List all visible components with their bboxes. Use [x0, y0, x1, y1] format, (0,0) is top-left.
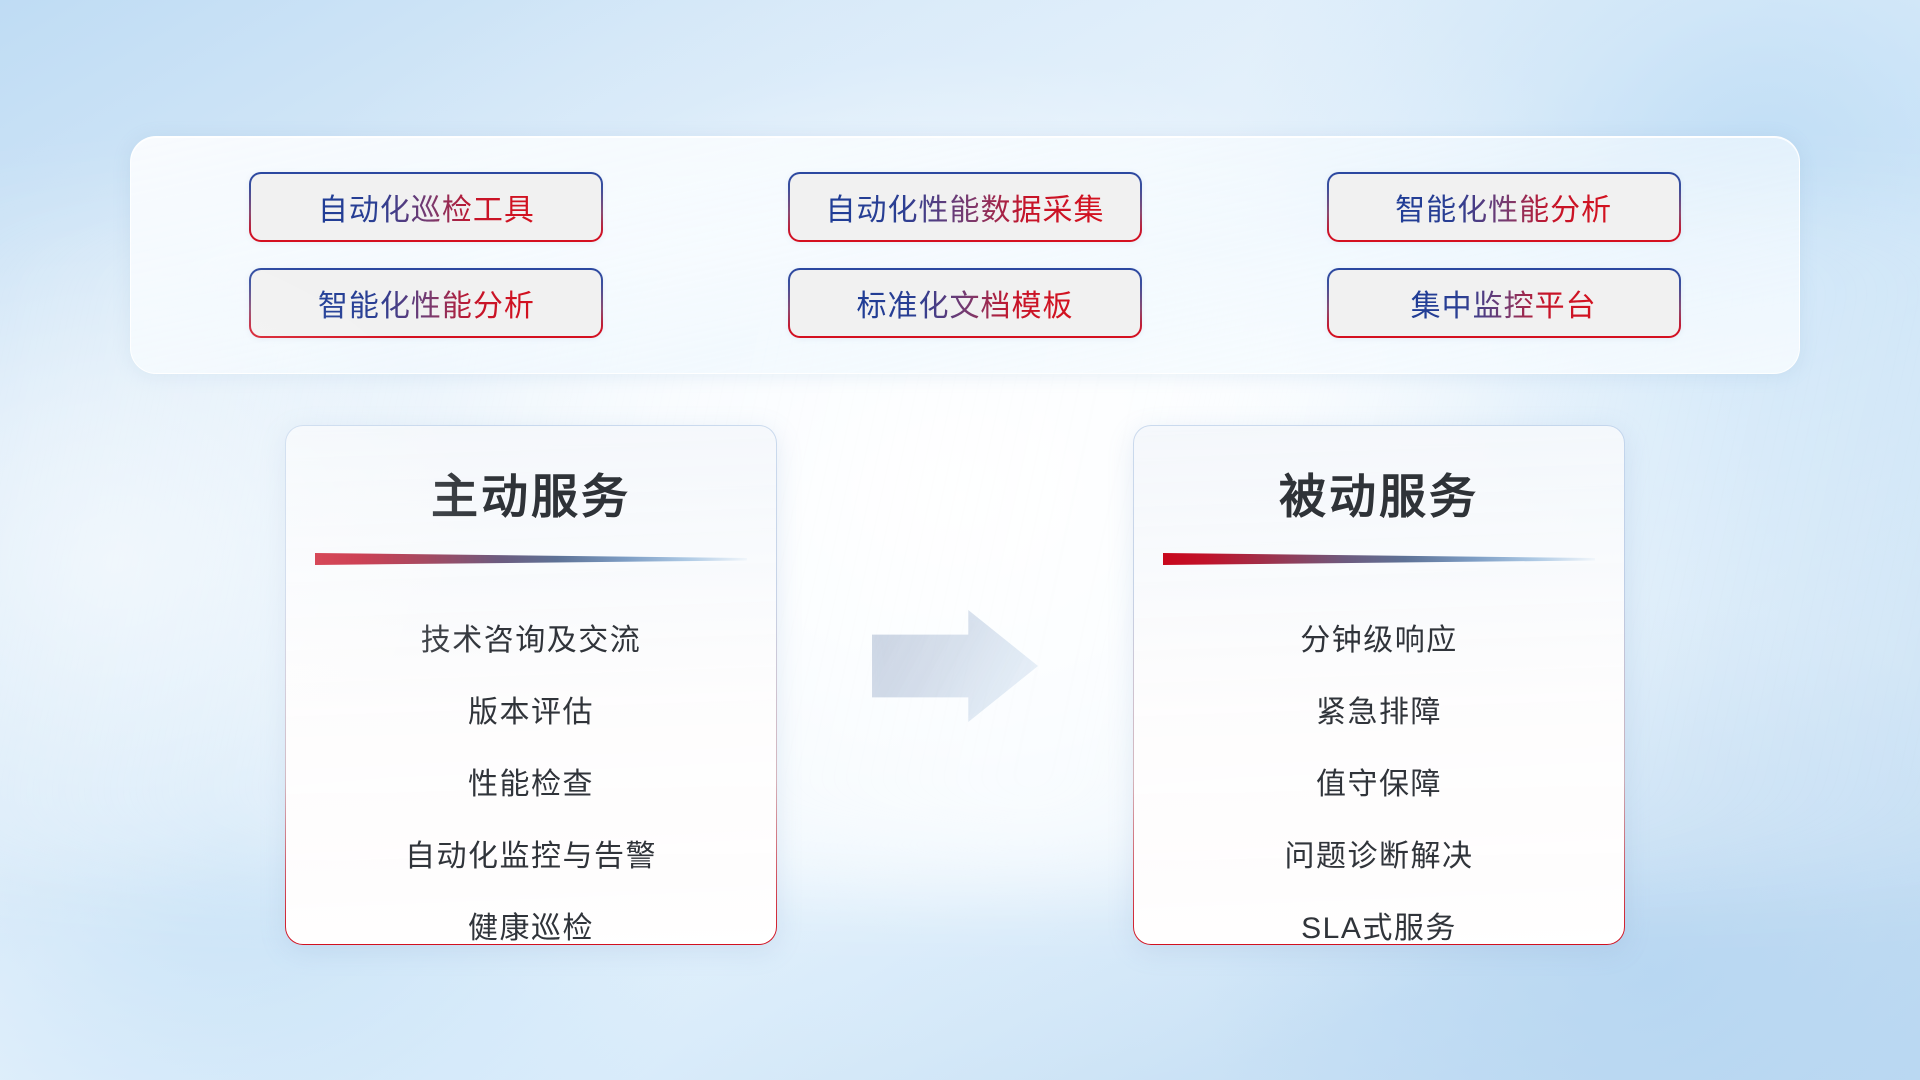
service-card-proactive[interactable]: 主动服务 技术咨询及交流 版本评估 性能检查 自动化监控与告警 健康巡检: [285, 425, 777, 945]
gradient-rule-icon: [315, 553, 747, 565]
capability-pill-3[interactable]: 智能化性能分析: [1327, 172, 1681, 242]
gradient-rule-icon: [1163, 553, 1595, 565]
service-card-reactive[interactable]: 被动服务 分钟级响应 紧急排障 值守保障 问题诊断解决 SLA式服务: [1133, 425, 1625, 945]
service-list: 技术咨询及交流 版本评估 性能检查 自动化监控与告警 健康巡检: [286, 605, 776, 945]
slide-canvas: 自动化巡检工具 自动化性能数据采集 智能化性能分析 智能化性能分析 标准化文档模…: [0, 0, 1920, 1080]
list-item: 紧急排障: [1316, 677, 1442, 749]
list-item: 技术咨询及交流: [421, 605, 642, 677]
card-title: 主动服务: [286, 458, 776, 527]
capability-pill-label: 自动化性能数据采集: [825, 185, 1104, 229]
list-item: 分钟级响应: [1300, 605, 1458, 677]
list-item: 版本评估: [468, 677, 594, 749]
capability-pill-1[interactable]: 自动化巡检工具: [249, 172, 603, 242]
service-list: 分钟级响应 紧急排障 值守保障 问题诊断解决 SLA式服务: [1134, 605, 1624, 945]
capability-pill-4[interactable]: 智能化性能分析: [249, 268, 603, 338]
list-item: 健康巡检: [468, 893, 594, 945]
capability-panel: 自动化巡检工具 自动化性能数据采集 智能化性能分析 智能化性能分析 标准化文档模…: [130, 136, 1800, 374]
list-item: 自动化监控与告警: [405, 821, 657, 893]
capability-pill-label: 智能化性能分析: [318, 281, 535, 325]
arrow-right-icon: [872, 610, 1038, 722]
capability-pill-label: 自动化巡检工具: [318, 185, 535, 229]
capability-pill-2[interactable]: 自动化性能数据采集: [788, 172, 1142, 242]
list-item: 性能检查: [468, 749, 594, 821]
card-divider: [315, 553, 747, 565]
capability-pill-label: 标准化文档模板: [856, 281, 1073, 325]
list-item: 问题诊断解决: [1285, 821, 1474, 893]
capability-pill-label: 智能化性能分析: [1395, 185, 1612, 229]
card-divider: [1163, 553, 1595, 565]
list-item: 值守保障: [1316, 749, 1442, 821]
card-title: 被动服务: [1134, 458, 1624, 527]
capability-pill-label: 集中监控平台: [1411, 281, 1597, 325]
list-item: SLA式服务: [1301, 893, 1457, 945]
capability-pill-grid: 自动化巡检工具 自动化性能数据采集 智能化性能分析 智能化性能分析 标准化文档模…: [131, 137, 1799, 373]
capability-pill-5[interactable]: 标准化文档模板: [788, 268, 1142, 338]
capability-pill-6[interactable]: 集中监控平台: [1327, 268, 1681, 338]
